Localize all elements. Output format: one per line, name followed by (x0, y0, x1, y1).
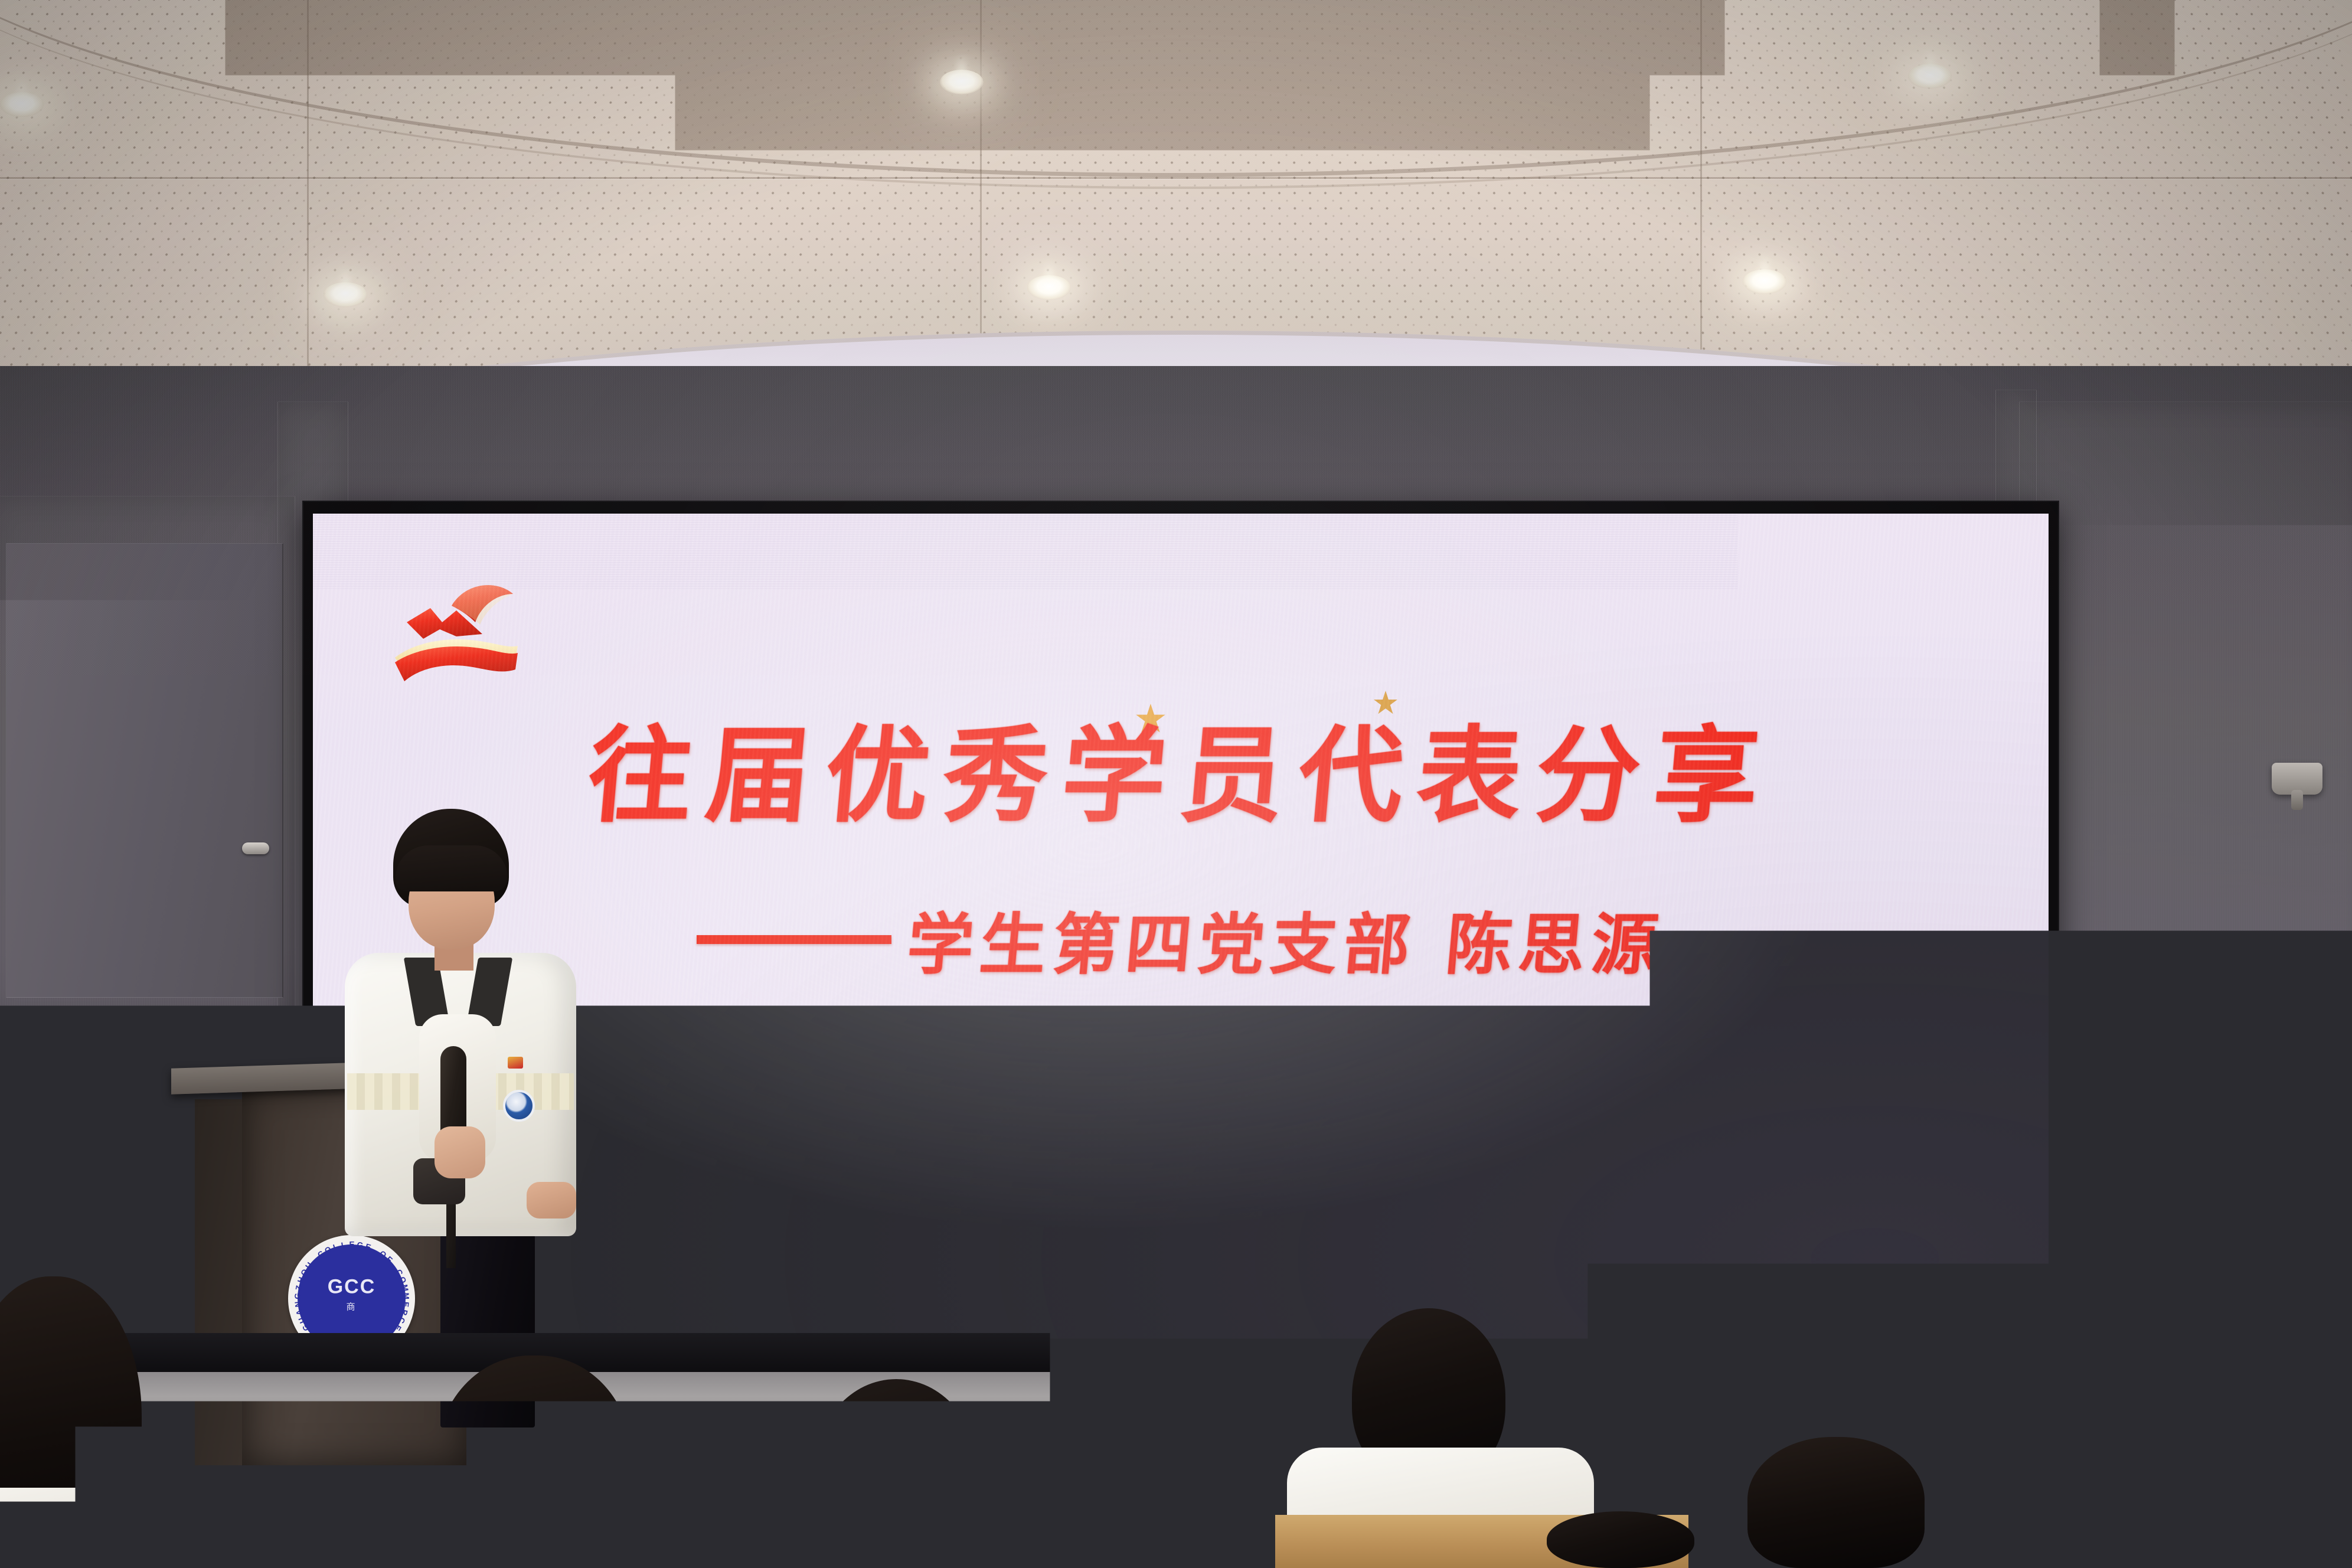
led-subtitle: 学生第四党支部 陈思源 (904, 891, 1669, 987)
audience-head (254, 1411, 390, 1568)
emblem-arc-char: G (293, 1292, 302, 1299)
ceiling-downlight (1743, 269, 1786, 294)
audience-head (814, 1379, 979, 1568)
ceiling-seam (0, 177, 2352, 179)
emblem-arc-char: H (295, 1275, 305, 1283)
gold-five-pointed-star (1110, 1188, 1252, 1324)
speaker-hair-fringe (396, 845, 508, 891)
bottle-label (1109, 1466, 1141, 1501)
paper-drink-cup (1004, 1470, 1066, 1546)
ceiling-downlight (1908, 64, 1952, 89)
cup-logo-icon (1020, 1501, 1050, 1527)
door-handle-icon[interactable] (242, 842, 269, 854)
ceiling-downlight (1027, 275, 1071, 300)
college-lapel-badge (503, 1090, 535, 1122)
emblem-arc-char: A (294, 1308, 304, 1316)
emblem-arc-char: U (296, 1315, 307, 1324)
audience-head (437, 1355, 632, 1568)
emblem-arc-char: N (293, 1301, 302, 1307)
emblem-arc-char: Z (293, 1285, 303, 1291)
speaker-hand (435, 1126, 485, 1178)
audience-head (1747, 1437, 1925, 1568)
audience-head (1157, 1367, 1352, 1568)
side-door[interactable] (6, 543, 283, 998)
ceiling-downlight (940, 70, 984, 94)
audience-head (1547, 1511, 1694, 1568)
audience-shoulders (2031, 1515, 2352, 1568)
speaker-hand-secondary (527, 1182, 576, 1219)
ceiling-downlight (0, 92, 44, 117)
emblem-arc-char: G (300, 1322, 311, 1332)
emblem-arc-char: C (316, 1249, 326, 1259)
ceiling-downlight (324, 282, 367, 307)
audience-shoulders (0, 1488, 165, 1568)
ceiling-camera-icon (2272, 763, 2322, 795)
party-lapel-badge (508, 1057, 523, 1069)
ceiling-seam (307, 0, 309, 413)
stage-front-dark-band (0, 1333, 2352, 1372)
plastic-water-bottle (1109, 1422, 1141, 1510)
cpc-party-emblem (378, 568, 533, 686)
wall-panel (2019, 401, 2352, 1334)
wall-power-outlet[interactable] (2077, 1040, 2116, 1067)
subtitle-dash-rule (697, 935, 891, 944)
title-accent-star-icon (1373, 691, 1399, 716)
lecture-hall-photo: 往届优秀学员代表分享 学生第四党支部 陈思源 GCC 商 GUANGZHOU C… (0, 0, 2352, 1568)
